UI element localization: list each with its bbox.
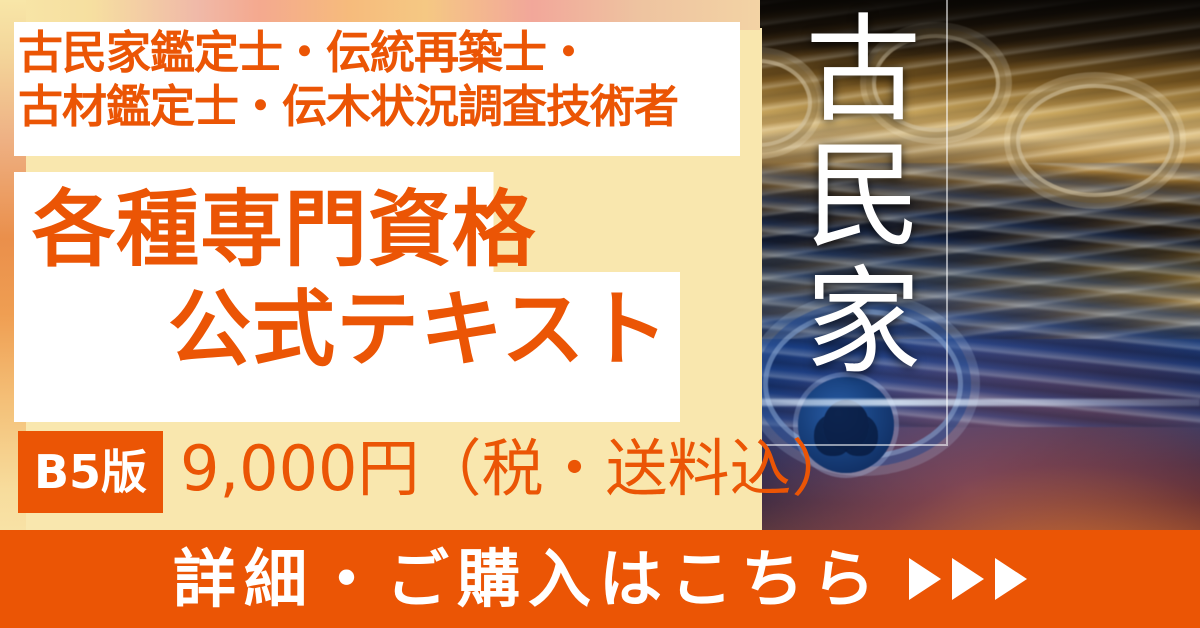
- cta-label: 詳細・ご購入はこちら: [173, 548, 883, 611]
- triangle-right-icon: [952, 558, 984, 600]
- cta-button[interactable]: 詳細・ご購入はこちら: [0, 530, 1200, 628]
- cover-title: 古民家: [786, 8, 918, 386]
- cover-swirl-ornament: [1020, 88, 1170, 193]
- format-badge: B5版: [18, 431, 163, 513]
- title-line-1: 各種専門資格: [32, 188, 536, 271]
- heading-line-1: 古民家鑑定士・伝統再築士・: [18, 30, 590, 75]
- format-badge-label: B5版: [34, 449, 147, 495]
- heading-line-2: 古材鑑定士・伝木状況調査技術者: [18, 84, 678, 129]
- banner-root: 伝統構法 古民家活用のための調査と再生の 古民家 古民家鑑定士・伝統再築士・ 古…: [0, 0, 1200, 628]
- title-line-2: 公式テキスト: [168, 288, 670, 371]
- triangle-right-icon: [909, 558, 941, 600]
- cta-arrow-group: [909, 558, 1027, 600]
- triangle-right-icon: [995, 558, 1027, 600]
- price-text: 9,000円（税・送料込）: [180, 438, 854, 500]
